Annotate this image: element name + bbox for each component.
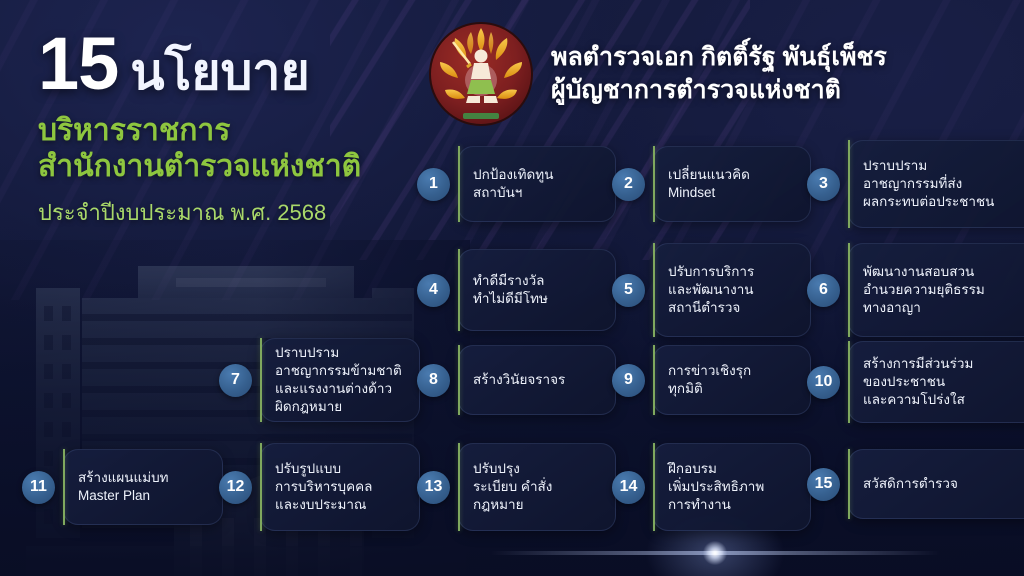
commander-text-block: พลตำรวจเอก กิตติ์รัฐ พันธุ์เพ็ชร ผู้บัญช…: [551, 41, 887, 107]
policy-card-3[interactable]: ปราบปรามอาชญากรรมที่ส่งผลกระทบต่อประชาชน: [848, 140, 1024, 228]
policy-text-3: ปราบปรามอาชญากรรมที่ส่งผลกระทบต่อประชาชน: [863, 157, 994, 210]
policy-text-line: การทำงาน: [668, 496, 764, 514]
policy-text-7: ปราบปรามอาชญากรรมข้ามชาติและแรงงานต่างด้…: [275, 344, 402, 415]
policy-text-10: สร้างการมีส่วนร่วมของประชาชนและความโปร่ง…: [863, 355, 973, 408]
royal-thai-police-emblem-icon: [427, 20, 535, 128]
policy-text-line: ทุกมิติ: [668, 380, 751, 398]
policy-number-badge-8: 8: [417, 364, 450, 397]
policy-text-line: ฝึกอบรม: [668, 460, 764, 478]
policy-text-15: สวัสดิการตำรวจ: [863, 475, 958, 493]
policy-item-6[interactable]: 6พัฒนางานสอบสวนอำนวยความยุติธรรมทางอาญา: [807, 243, 1024, 337]
policy-accent-bar: [653, 345, 655, 415]
policy-text-6: พัฒนางานสอบสวนอำนวยความยุติธรรมทางอาญา: [863, 263, 985, 316]
policy-text-line: และแรงงานต่างด้าว: [275, 380, 402, 398]
policy-number-badge-11: 11: [22, 471, 55, 504]
fiscal-year-label: ประจำปีงบประมาณ พ.ศ. 2568: [38, 195, 438, 230]
policy-card-9[interactable]: การข่าวเชิงรุกทุกมิติ: [653, 345, 811, 415]
policy-number-badge-6: 6: [807, 274, 840, 307]
policy-card-11[interactable]: สร้างแผนแม่บทMaster Plan: [63, 449, 223, 525]
policy-card-4[interactable]: ทำดีมีรางวัลทำไม่ดีมีโทษ: [458, 249, 616, 331]
policy-text-line: การข่าวเชิงรุก: [668, 362, 751, 380]
policy-number-badge-15: 15: [807, 468, 840, 501]
policy-text-2: เปลี่ยนแนวคิดMindset: [668, 166, 750, 202]
policy-text-line: ปรับปรุง: [473, 460, 552, 478]
commander-block: พลตำรวจเอก กิตติ์รัฐ พันธุ์เพ็ชร ผู้บัญช…: [427, 20, 887, 128]
policy-text-14: ฝึกอบรมเพิ่มประสิทธิภาพการทำงาน: [668, 460, 764, 513]
policy-text-line: สร้างแผนแม่บท: [78, 469, 169, 487]
policy-text-5: ปรับการบริการและพัฒนางานสถานีตำรวจ: [668, 263, 754, 316]
policy-text-line: ปรับรูปแบบ: [275, 460, 372, 478]
subtitle-line-1: บริหารราชการ: [38, 113, 438, 150]
policy-accent-bar: [848, 341, 850, 423]
poster-canvas: 15นโยบาย บริหารราชการ สำนักงานตำรวจแห่งช…: [0, 0, 1024, 576]
policy-accent-bar: [458, 345, 460, 415]
policy-number-badge-5: 5: [612, 274, 645, 307]
policy-card-14[interactable]: ฝึกอบรมเพิ่มประสิทธิภาพการทำงาน: [653, 443, 811, 531]
policy-accent-bar: [653, 243, 655, 337]
policy-text-13: ปรับปรุงระเบียบ คำสั่งกฎหมาย: [473, 460, 552, 513]
policy-text-line: สวัสดิการตำรวจ: [863, 475, 958, 493]
policy-accent-bar: [848, 243, 850, 337]
policy-number-badge-4: 4: [417, 274, 450, 307]
commander-title: ผู้บัญชาการตำรวจแห่งชาติ: [551, 74, 887, 107]
policy-text-line: เปลี่ยนแนวคิด: [668, 166, 750, 184]
policy-text-line: ปราบปราม: [863, 157, 994, 175]
policy-item-11[interactable]: 11สร้างแผนแม่บทMaster Plan: [22, 449, 223, 525]
headline-word: นโยบาย: [130, 47, 309, 97]
policy-text-line: สถาบันฯ: [473, 184, 553, 202]
policy-number-badge-14: 14: [612, 471, 645, 504]
policy-item-9[interactable]: 9การข่าวเชิงรุกทุกมิติ: [612, 345, 811, 415]
policy-text-line: สร้างวินัยจราจร: [473, 371, 565, 389]
policy-accent-bar: [653, 443, 655, 531]
policy-accent-bar: [458, 146, 460, 222]
policy-text-line: และความโปร่งใส: [863, 391, 973, 409]
policy-accent-bar: [63, 449, 65, 525]
policy-text-8: สร้างวินัยจราจร: [473, 371, 565, 389]
policy-card-1[interactable]: ปกป้องเทิดทูนสถาบันฯ: [458, 146, 616, 222]
policy-text-12: ปรับรูปแบบการบริหารบุคคลและงบประมาณ: [275, 460, 372, 513]
policy-text-line: ทำดีมีรางวัล: [473, 272, 548, 290]
subtitle-block: บริหารราชการ สำนักงานตำรวจแห่งชาติ: [38, 113, 438, 186]
policy-text-line: อาชญากรรมข้ามชาติ: [275, 362, 402, 380]
policy-card-13[interactable]: ปรับปรุงระเบียบ คำสั่งกฎหมาย: [458, 443, 616, 531]
policy-card-15[interactable]: สวัสดิการตำรวจ: [848, 449, 1024, 519]
policy-text-line: ผิดกฎหมาย: [275, 398, 402, 416]
policy-text-line: ของประชาชน: [863, 373, 973, 391]
policy-text-line: Master Plan: [78, 487, 169, 505]
policy-text-1: ปกป้องเทิดทูนสถาบันฯ: [473, 166, 553, 202]
subtitle-line-2: สำนักงานตำรวจแห่งชาติ: [38, 149, 438, 186]
policy-accent-bar: [848, 449, 850, 519]
policy-number-badge-7: 7: [219, 364, 252, 397]
policy-card-8[interactable]: สร้างวินัยจราจร: [458, 345, 616, 415]
policy-text-line: ผลกระทบต่อประชาชน: [863, 193, 994, 211]
policy-item-13[interactable]: 13ปรับปรุงระเบียบ คำสั่งกฎหมาย: [417, 443, 616, 531]
policy-item-3[interactable]: 3ปราบปรามอาชญากรรมที่ส่งผลกระทบต่อประชาช…: [807, 140, 1024, 228]
policy-item-8[interactable]: 8สร้างวินัยจราจร: [417, 345, 616, 415]
policy-text-9: การข่าวเชิงรุกทุกมิติ: [668, 362, 751, 398]
policy-text-11: สร้างแผนแม่บทMaster Plan: [78, 469, 169, 505]
policy-number-badge-10: 10: [807, 366, 840, 399]
policy-text-line: ปราบปราม: [275, 344, 402, 362]
policy-item-14[interactable]: 14ฝึกอบรมเพิ่มประสิทธิภาพการทำงาน: [612, 443, 811, 531]
policy-item-2[interactable]: 2เปลี่ยนแนวคิดMindset: [612, 146, 811, 222]
policy-accent-bar: [260, 443, 262, 531]
policy-text-line: ทางอาญา: [863, 299, 985, 317]
commander-name: พลตำรวจเอก กิตติ์รัฐ พันธุ์เพ็ชร: [551, 41, 887, 74]
policy-text-line: สร้างการมีส่วนร่วม: [863, 355, 973, 373]
policy-accent-bar: [458, 249, 460, 331]
policy-text-line: ปกป้องเทิดทูน: [473, 166, 553, 184]
policy-item-1[interactable]: 1ปกป้องเทิดทูนสถาบันฯ: [417, 146, 616, 222]
policy-card-2[interactable]: เปลี่ยนแนวคิดMindset: [653, 146, 811, 222]
policy-text-4: ทำดีมีรางวัลทำไม่ดีมีโทษ: [473, 272, 548, 308]
policy-item-5[interactable]: 5ปรับการบริการและพัฒนางานสถานีตำรวจ: [612, 243, 811, 337]
policy-card-5[interactable]: ปรับการบริการและพัฒนางานสถานีตำรวจ: [653, 243, 811, 337]
policy-accent-bar: [653, 146, 655, 222]
policy-text-line: อำนวยความยุติธรรม: [863, 281, 985, 299]
policy-text-line: Mindset: [668, 184, 750, 202]
headline-number: 15: [38, 28, 118, 101]
policy-text-line: และพัฒนางาน: [668, 281, 754, 299]
policy-text-line: สถานีตำรวจ: [668, 299, 754, 317]
policy-item-4[interactable]: 4ทำดีมีรางวัลทำไม่ดีมีโทษ: [417, 249, 616, 331]
policy-number-badge-2: 2: [612, 168, 645, 201]
policy-card-10[interactable]: สร้างการมีส่วนร่วมของประชาชนและความโปร่ง…: [848, 341, 1024, 423]
policy-item-7[interactable]: 7ปราบปรามอาชญากรรมข้ามชาติและแรงงานต่างด…: [219, 338, 420, 422]
policy-text-line: กฎหมาย: [473, 496, 552, 514]
policy-card-7[interactable]: ปราบปรามอาชญากรรมข้ามชาติและแรงงานต่างด้…: [260, 338, 420, 422]
policy-text-line: ระเบียบ คำสั่ง: [473, 478, 552, 496]
policy-text-line: และงบประมาณ: [275, 496, 372, 514]
policy-accent-bar: [260, 338, 262, 422]
policy-text-line: พัฒนางานสอบสวน: [863, 263, 985, 281]
policy-text-line: ปรับการบริการ: [668, 263, 754, 281]
policy-number-badge-9: 9: [612, 364, 645, 397]
policy-item-12[interactable]: 12ปรับรูปแบบการบริหารบุคคลและงบประมาณ: [219, 443, 420, 531]
policy-text-line: อาชญากรรมที่ส่ง: [863, 175, 994, 193]
policy-text-line: เพิ่มประสิทธิภาพ: [668, 478, 764, 496]
headline-row: 15นโยบาย: [38, 28, 438, 101]
policy-item-15[interactable]: 15สวัสดิการตำรวจ: [807, 449, 1024, 519]
policy-card-6[interactable]: พัฒนางานสอบสวนอำนวยความยุติธรรมทางอาญา: [848, 243, 1024, 337]
policy-text-line: ทำไม่ดีมีโทษ: [473, 290, 548, 308]
policy-accent-bar: [848, 140, 850, 228]
policy-text-line: การบริหารบุคคล: [275, 478, 372, 496]
policy-item-10[interactable]: 10สร้างการมีส่วนร่วมของประชาชนและความโปร…: [807, 341, 1024, 423]
policy-number-badge-13: 13: [417, 471, 450, 504]
policy-accent-bar: [458, 443, 460, 531]
policy-number-badge-12: 12: [219, 471, 252, 504]
headline-block: 15นโยบาย บริหารราชการ สำนักงานตำรวจแห่งช…: [38, 28, 438, 230]
policy-card-12[interactable]: ปรับรูปแบบการบริหารบุคคลและงบประมาณ: [260, 443, 420, 531]
policy-number-badge-3: 3: [807, 168, 840, 201]
